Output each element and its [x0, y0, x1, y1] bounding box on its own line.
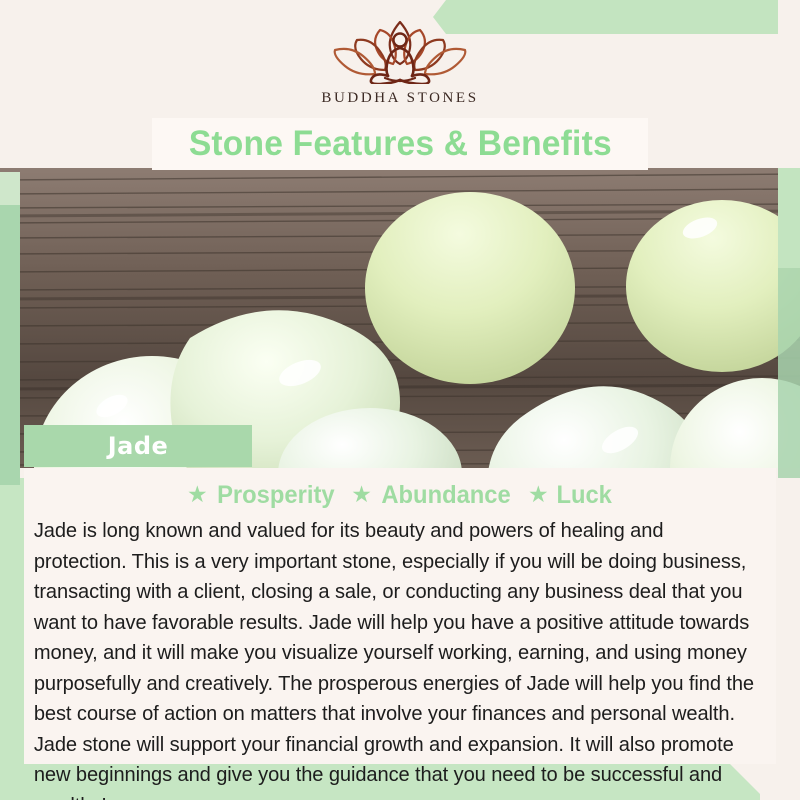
stone-content-panel: ★ Prosperity ★ Abundance ★ Luck Jade is … — [24, 468, 776, 764]
benefit-item: ★ Prosperity — [187, 481, 337, 510]
brand-name: BUDDHA STONES — [321, 90, 478, 107]
benefit-label: Prosperity — [217, 481, 334, 510]
benefits-list: ★ Prosperity ★ Abundance ★ Luck — [24, 468, 776, 512]
frame-bottom-right-notch — [760, 764, 800, 800]
star-icon: ★ — [187, 483, 208, 506]
benefit-label: Abundance — [381, 481, 510, 510]
benefit-item: ★ Luck — [528, 481, 613, 510]
star-icon: ★ — [528, 483, 549, 506]
frame-accent-right-lower — [778, 268, 800, 478]
benefit-label: Luck — [556, 481, 611, 510]
star-icon: ★ — [351, 483, 372, 506]
stone-description: Jade is long known and valued for its be… — [24, 512, 765, 800]
lotus-meditation-icon — [327, 18, 473, 84]
frame-accent-left-upper — [0, 172, 20, 207]
page-title: Stone Features & Benefits — [188, 124, 611, 164]
stone-info-poster: BUDDHA STONES Stone Features & Benefits … — [0, 0, 800, 800]
stone-name-badge: Jade — [24, 425, 252, 467]
frame-accent-bottom-left — [0, 478, 24, 800]
stone-name-label: Jade — [108, 432, 169, 460]
jade-tumbled-stones-photo — [0, 168, 800, 468]
page-title-band: Stone Features & Benefits — [152, 118, 648, 170]
frame-accent-left — [0, 205, 20, 485]
benefit-item: ★ Abundance — [351, 481, 514, 510]
brand-logo: BUDDHA STONES — [0, 18, 800, 107]
